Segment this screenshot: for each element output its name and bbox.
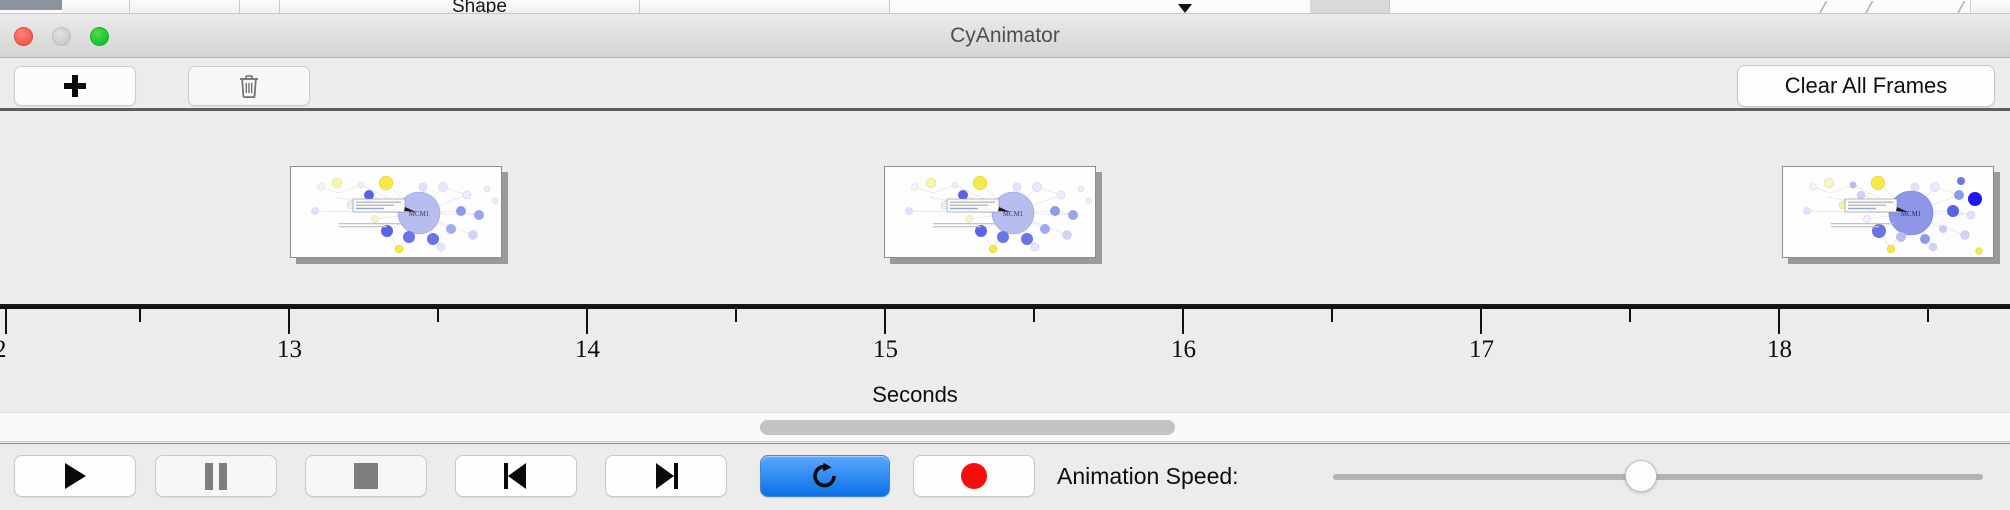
animation-speed-label: Animation Speed: [1057, 455, 1239, 497]
skip-to-end-button[interactable] [605, 455, 727, 497]
minimize-button[interactable] [52, 27, 71, 46]
background-titlebar-fragment [0, 0, 62, 10]
axis-title-label: Seconds [872, 382, 958, 407]
timeline-ruler[interactable]: 2 13 14 15 16 17 18 Seconds [0, 306, 2010, 410]
background-cell [640, 0, 890, 14]
play-button[interactable] [14, 455, 136, 497]
pause-icon [205, 463, 227, 490]
slider-thumb[interactable] [1625, 460, 1657, 492]
background-caret-icon [1178, 4, 1192, 13]
ruler-label: 17 [1469, 336, 1494, 364]
timeline-frame-2[interactable]: MCM1 [884, 166, 1102, 264]
timeline-frame-1[interactable]: MCM1 [290, 166, 508, 264]
network-thumbnail-image: MCM1 [1783, 167, 1994, 258]
pause-button[interactable] [155, 455, 277, 497]
record-button[interactable] [913, 455, 1035, 497]
skip-forward-icon [654, 463, 678, 489]
background-cell [130, 0, 240, 14]
ruler-label: 15 [873, 336, 898, 364]
ruler-major-tick [5, 309, 7, 334]
frame-thumbnail: MCM1 [884, 166, 1096, 258]
slider-track[interactable] [1333, 474, 1983, 480]
ruler-minor-tick [735, 309, 737, 322]
background-window-label: Shape [452, 0, 507, 14]
timeline-frame-3[interactable]: MCM1 [1782, 166, 2000, 264]
background-cell [1310, 0, 1390, 14]
background-tick [1957, 1, 1966, 14]
background-cell [280, 0, 480, 14]
delete-frame-button[interactable] [188, 66, 310, 106]
background-cell [240, 0, 280, 14]
ruler-minor-tick [1033, 309, 1035, 322]
svg-text:MCM1: MCM1 [1003, 210, 1024, 218]
ruler-minor-tick [1331, 309, 1333, 322]
ruler-baseline [0, 306, 2010, 309]
animation-speed-slider[interactable] [1333, 474, 1983, 480]
network-thumbnail-image: MCM1 [885, 167, 1096, 258]
page-title: CyAnimator [0, 14, 2010, 58]
playback-toolbar: Animation Speed: [0, 443, 2010, 510]
background-window-corner [1970, 0, 2010, 14]
skip-back-icon [504, 463, 528, 489]
ruler-minor-tick [1927, 309, 1929, 322]
svg-text:MCM1: MCM1 [409, 210, 430, 218]
plus-icon [64, 75, 86, 97]
timeline-scrollbar[interactable] [0, 412, 2010, 442]
network-thumbnail-image: MCM1 [291, 167, 502, 258]
loop-button[interactable] [760, 455, 890, 497]
ruler-major-tick [1480, 309, 1482, 334]
toolbar: Clear All Frames [0, 58, 2010, 111]
ruler-label: 16 [1171, 336, 1196, 364]
ruler-label: 18 [1767, 336, 1792, 364]
timeline-scrollbar-thumb[interactable] [760, 420, 1175, 435]
stop-icon [354, 463, 378, 489]
ruler-minor-tick [1629, 309, 1631, 322]
ruler-minor-tick [437, 309, 439, 322]
background-window: Shape [0, 0, 2010, 14]
cyanimator-window: Shape CyAnimator Clear All Frames [0, 0, 2010, 510]
clear-all-frames-label: Clear All Frames [1785, 73, 1948, 99]
ruler-label: 2 [0, 336, 7, 364]
loop-icon [810, 461, 840, 491]
background-tick [1865, 1, 1874, 14]
maximize-button[interactable] [90, 27, 109, 46]
axis-title: Seconds [0, 382, 2010, 408]
add-frame-button[interactable] [14, 66, 136, 106]
frame-thumbnail: MCM1 [1782, 166, 1994, 258]
background-cell [62, 0, 130, 14]
ruler-label: 14 [575, 336, 600, 364]
trash-icon [239, 74, 259, 98]
background-tick [1819, 1, 1828, 14]
ruler-major-tick [586, 309, 588, 334]
clear-all-frames-button[interactable]: Clear All Frames [1737, 65, 1995, 107]
titlebar: CyAnimator [0, 14, 2010, 58]
close-button[interactable] [14, 27, 33, 46]
timeline-track[interactable]: MCM1 [0, 114, 2010, 306]
skip-to-start-button[interactable] [455, 455, 577, 497]
ruler-label: 13 [277, 336, 302, 364]
frame-thumbnail: MCM1 [290, 166, 502, 258]
ruler-major-tick [1182, 309, 1184, 334]
play-icon [65, 463, 86, 489]
ruler-minor-tick [139, 309, 141, 322]
ruler-major-tick [1778, 309, 1780, 334]
ruler-major-tick [884, 309, 886, 334]
record-icon [961, 463, 987, 489]
svg-text:MCM1: MCM1 [1901, 210, 1922, 218]
ruler-major-tick [288, 309, 290, 334]
stop-button[interactable] [305, 455, 427, 497]
